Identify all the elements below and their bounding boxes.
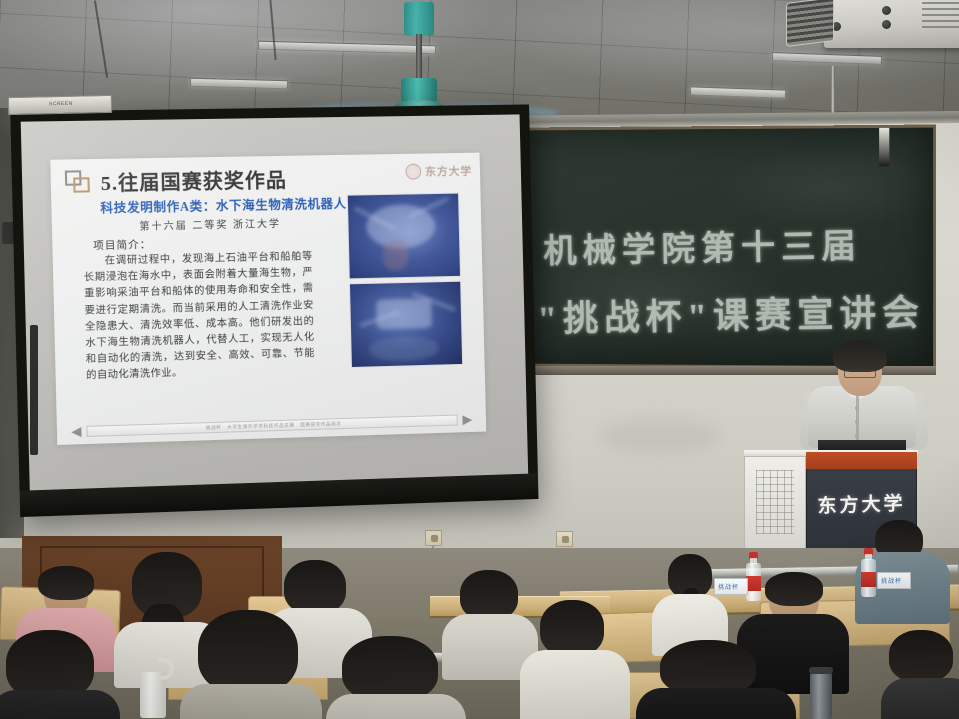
hair (342, 636, 438, 702)
screen-side-bar (30, 325, 38, 455)
slide-award-line: 第十六届 二等奖 浙江大学 (139, 215, 281, 233)
name-card: 挑战杯 (714, 578, 748, 595)
ceiling-projector-icon (786, 0, 959, 64)
torso (326, 694, 466, 719)
hair (38, 566, 94, 600)
hair (889, 630, 953, 682)
prev-slide-arrow-icon[interactable] (71, 427, 81, 437)
torso (520, 650, 630, 719)
presentation-slide: 5.往届国赛获奖作品 东方大学 科技发明制作A类：水下海生物清洗机器人 第十六届… (50, 153, 486, 445)
bottle-label (861, 572, 876, 587)
projector-screen-case[interactable]: SCREEN (8, 95, 112, 115)
slide-photo-group (347, 193, 463, 372)
audience-person (528, 600, 618, 718)
paper-cup[interactable] (140, 672, 166, 718)
lecture-hall-scene: 机械学院第十三届 "挑战杯"课赛宣讲会 SCREEN 5.往届国赛获奖作品 (0, 0, 959, 719)
underwater-robot-photo-1 (347, 193, 461, 280)
wall-outlet[interactable] (425, 530, 442, 546)
blackboard-clip (879, 128, 889, 166)
projector-knob (882, 6, 891, 15)
presenter-person (800, 340, 930, 460)
torso (881, 678, 959, 719)
next-slide-arrow-icon[interactable] (462, 415, 472, 425)
podium-speaker-grille (756, 470, 794, 534)
projector-body (824, 0, 959, 48)
slide-subtitle: 科技发明制作A类：水下海生物清洗机器人 (100, 193, 347, 217)
projector-vent (922, 2, 959, 30)
projection-screen[interactable]: 5.往届国赛获奖作品 东方大学 科技发明制作A类：水下海生物清洗机器人 第十六届… (10, 104, 538, 517)
underwater-robot-photo-2 (349, 281, 463, 368)
wall-outlet[interactable] (556, 531, 573, 547)
hair (460, 570, 518, 620)
audience-person (885, 630, 959, 719)
bottle-label (746, 576, 761, 591)
hair (284, 560, 346, 614)
audience-person (446, 570, 532, 675)
podium-accent-stripe (806, 452, 917, 469)
slide-footer-bar: 挑战杯 · 大学生课外学术科技作品竞赛 · 国赛获奖作品展示 (86, 415, 457, 437)
torso (636, 688, 796, 719)
university-logo-text: 东方大学 (425, 163, 472, 180)
podium-university-text: 东方大学 (806, 488, 918, 519)
blackboard: 机械学院第十三届 "挑战杯"课赛宣讲会 (523, 125, 936, 370)
wall-smudge (600, 418, 720, 454)
blackboard-line-2: "挑战杯"课赛宣讲会 (537, 283, 926, 342)
screen-case-label: SCREEN (49, 101, 73, 107)
slide-body-text: 在调研过程中，发现海上石油平台和船舶等长期浸泡在海水中，表面会附着大量海生物，严… (83, 249, 315, 385)
square-outline-tan (73, 177, 90, 192)
ceiling-fan-icon (382, 0, 462, 112)
tumbler-lid (809, 667, 833, 674)
audience-person (0, 630, 120, 719)
presenter-hair (833, 340, 887, 372)
shirt-button (855, 420, 859, 424)
shirt-button (855, 406, 859, 410)
shirt-button (855, 434, 859, 438)
university-logo: 东方大学 (405, 163, 472, 180)
name-card: 挑战杯 (877, 572, 911, 589)
torso (0, 690, 120, 719)
hair (198, 610, 298, 694)
audience-person (650, 554, 730, 644)
hair (540, 600, 604, 656)
hair (765, 572, 823, 606)
glasses-icon (844, 370, 876, 378)
slide-header: 5.往届国赛获奖作品 (65, 164, 287, 197)
audience-person (640, 640, 790, 719)
university-seal-icon (405, 164, 421, 180)
projector-knob (882, 20, 891, 29)
slide-footer-text: 挑战杯 · 大学生课外学术科技作品竞赛 · 国赛获奖作品展示 (206, 421, 342, 431)
travel-tumbler[interactable] (810, 672, 832, 719)
name-card-text: 挑战杯 (718, 582, 739, 591)
fan-ceiling-mount (404, 2, 434, 36)
slide-footer-nav[interactable]: 挑战杯 · 大学生课外学术科技作品竞赛 · 国赛获奖作品展示 (71, 413, 472, 438)
torso (180, 684, 322, 719)
overlapping-squares-icon (65, 170, 92, 195)
projector-lens (786, 0, 834, 47)
audience-person (180, 610, 320, 719)
blackboard-line-1: 机械学院第十三届 (543, 218, 862, 273)
slide-brief-label: 项目简介： (93, 237, 152, 253)
fan-down-rod (416, 34, 422, 82)
slide-title: 5.往届国赛获奖作品 (100, 164, 287, 196)
name-card-text: 挑战杯 (881, 576, 902, 585)
projection-surface: 5.往届国赛获奖作品 东方大学 科技发明制作A类：水下海生物清洗机器人 第十六届… (21, 114, 528, 490)
